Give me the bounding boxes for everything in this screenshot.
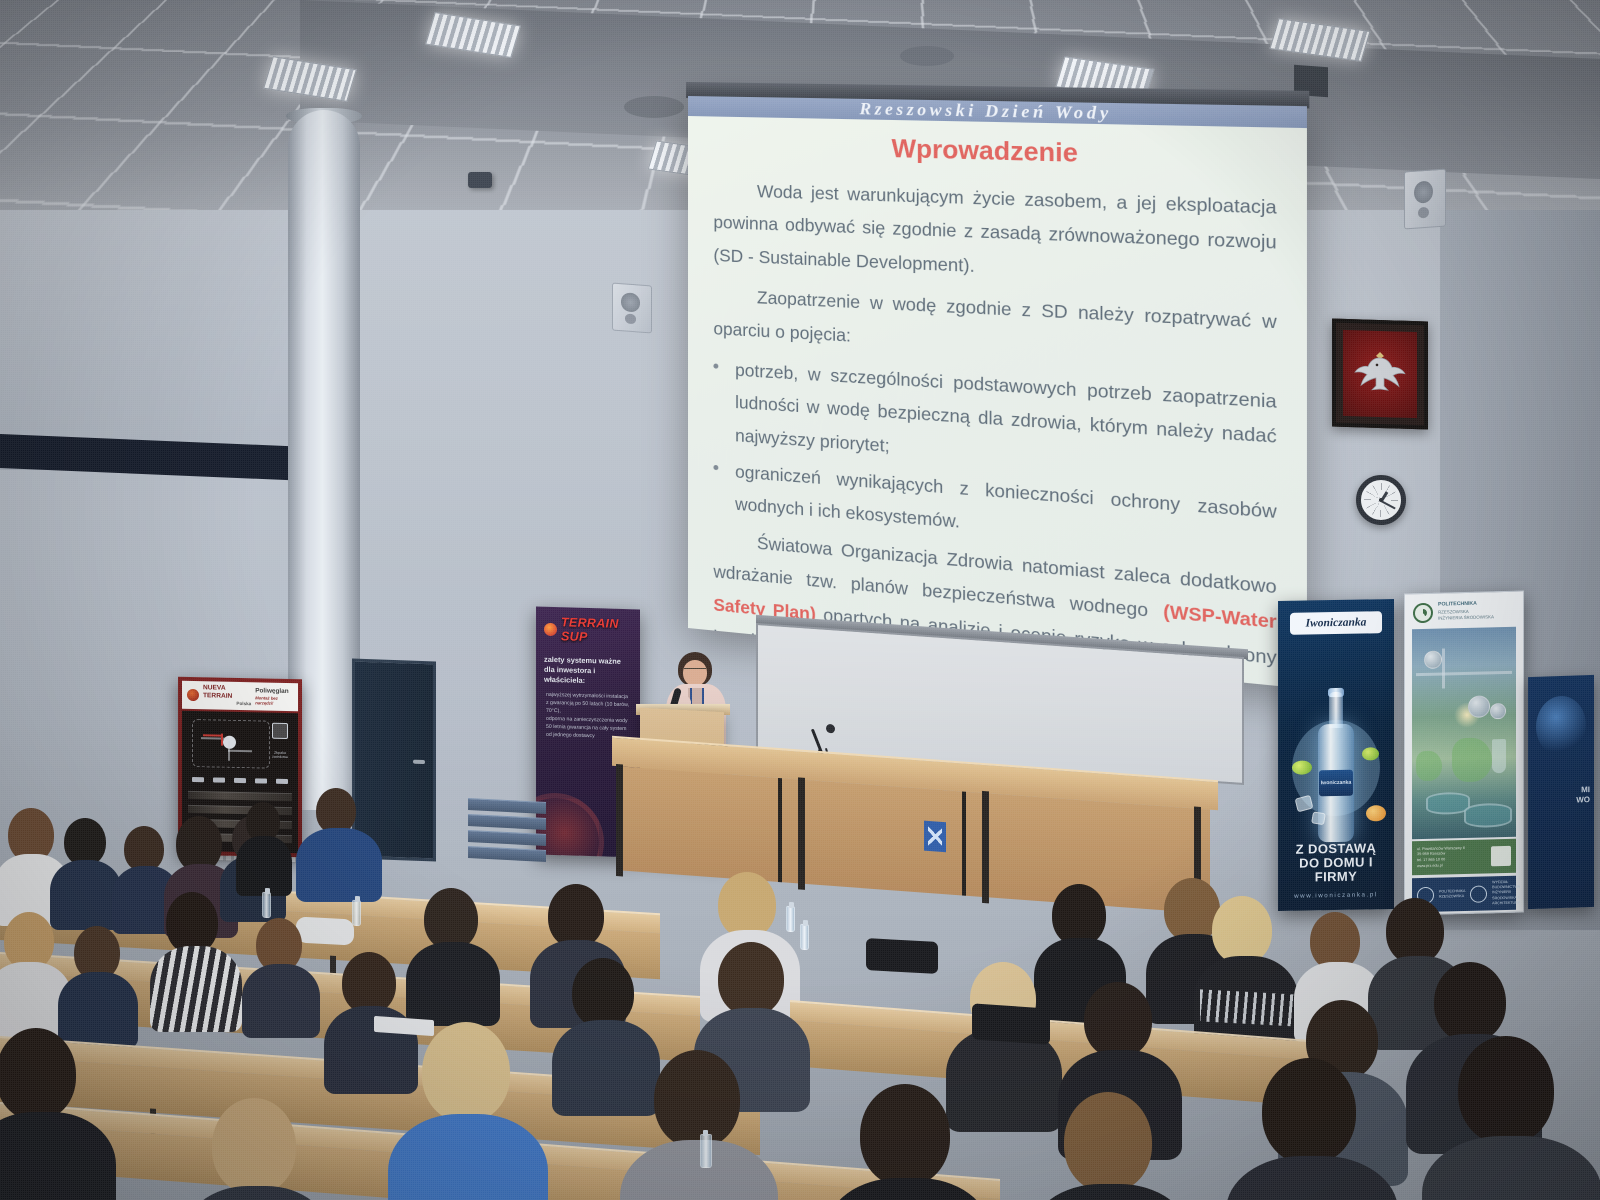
foliage-graphic	[1416, 751, 1442, 782]
person-torso	[58, 972, 138, 1048]
person-head	[718, 872, 776, 938]
terrain-brand: TERRAIN SUP	[561, 615, 634, 645]
door-handle[interactable]	[413, 760, 425, 764]
nueva-terrain-logo-icon	[187, 689, 199, 701]
person-torso	[296, 828, 382, 902]
person-head	[1386, 898, 1444, 964]
person-torso	[552, 1020, 660, 1116]
terrain-logo: TERRAIN SUP	[536, 607, 640, 646]
person-head	[342, 952, 396, 1014]
tank-graphic	[1490, 703, 1506, 719]
security-camera	[468, 172, 492, 188]
edge-graphic	[1536, 695, 1586, 757]
shelf-strip	[188, 791, 292, 801]
person-head	[572, 958, 634, 1028]
edge-line-1: MI	[1576, 785, 1590, 796]
footer-label-1: POLITECHNIKA RZESZOWSKA	[1439, 889, 1465, 900]
person-torso	[406, 942, 500, 1026]
pipe-highlight	[221, 733, 223, 745]
iwoniczanka-brand: Iwoniczanka	[1290, 611, 1382, 635]
person-head	[1458, 1036, 1554, 1144]
person-head	[64, 818, 106, 866]
person-torso	[236, 836, 292, 896]
terrain-headline: zalety systemu ważne dla inwestora i wła…	[536, 643, 640, 688]
desk-seam	[962, 791, 966, 895]
edge-banner-text: MI WO	[1576, 785, 1590, 806]
emblem-background	[1343, 330, 1417, 418]
person-torso	[150, 946, 242, 1032]
wall-clock	[1356, 475, 1406, 525]
water-bottle	[352, 900, 361, 926]
tank-graphic	[1424, 651, 1442, 669]
ceiling-vent	[900, 46, 954, 66]
person-head	[422, 1022, 510, 1122]
stage-steps	[468, 798, 546, 866]
bullet-dot-icon	[713, 454, 723, 520]
slide-content: Wprowadzenie Woda jest warunkującym życi…	[688, 116, 1307, 689]
ice-cube-icon	[1311, 811, 1326, 825]
wall-speaker	[612, 283, 652, 334]
orange-slice-icon	[1366, 805, 1386, 821]
pipe-graphic	[1442, 648, 1445, 688]
bottle-label: Iwoniczanka	[1319, 770, 1353, 797]
banner-iwoniczanka: Iwoniczanka Iwoniczanka Z DOSTAWĄ DO DOM…	[1278, 599, 1394, 911]
desk-seam	[778, 778, 782, 882]
ice-cube-icon	[1295, 795, 1314, 813]
address-line: www.prz.edu.pl	[1417, 863, 1465, 870]
person-head	[424, 888, 478, 950]
address-lines: ul. Powstańców Warszawy 6 35-959 Rzeszów…	[1417, 846, 1465, 870]
person-head	[1052, 884, 1106, 946]
edge-line-2: WO	[1576, 795, 1590, 806]
tech-banner-header: POLITECHNIKA RZESZOWSKA INŻYNIERIA ŚRODO…	[1405, 592, 1523, 628]
glassware-graphic	[1492, 739, 1506, 773]
org-line-3: INŻYNIERIA ŚRODOWISKA	[1438, 615, 1494, 623]
terrain-swirl-graphic	[536, 792, 604, 858]
clock-center-pin	[1379, 498, 1383, 502]
pipe-segment	[201, 738, 229, 741]
water-bottle	[700, 1134, 712, 1168]
person-head	[166, 892, 218, 954]
cabinet-brand: NUEVA TERRAINPolska	[203, 685, 251, 707]
desk-leg	[798, 777, 805, 890]
cabinet-product: PoliwęglanMontaż bez narzędzi!	[255, 687, 293, 706]
wall-speaker	[1404, 169, 1446, 230]
person-head	[1434, 962, 1506, 1042]
university-logo-icon	[1413, 602, 1433, 622]
person-head	[548, 884, 604, 948]
person-head	[1084, 982, 1152, 1058]
footer-label-2: WYDZIAŁ BUDOWNICTWA INŻYNIERII ŚRODOWISK…	[1492, 880, 1520, 907]
tank-graphic	[1468, 695, 1490, 718]
tech-banner-address: ul. Powstańców Warszawy 6 35-959 Rzeszów…	[1412, 839, 1516, 876]
banner-edge-partial: MI WO	[1528, 675, 1594, 909]
lecture-hall-photo: Rzeszowski Dzień Wody Wprowadzenie Woda …	[0, 0, 1600, 1200]
eagle-icon	[1352, 345, 1408, 399]
person-head	[718, 942, 784, 1016]
desk-leg	[616, 764, 623, 877]
bullet-dot-icon	[713, 352, 723, 450]
connector-row	[188, 773, 292, 787]
person-head	[1262, 1058, 1356, 1164]
tagline-line-2: DO DOMU I FIRMY	[1278, 855, 1394, 885]
foliage-graphic	[1452, 737, 1492, 782]
terrain-feature-list: najwyższej wytrzymałości instalacja z gw…	[536, 685, 640, 742]
desk-leg	[982, 791, 989, 904]
iwoniczanka-tagline: Z DOSTAWĄ DO DOMU I FIRMY	[1278, 841, 1394, 885]
handbag	[866, 938, 938, 974]
person-head	[1064, 1092, 1152, 1192]
person-head	[1212, 896, 1272, 964]
person-head	[654, 1050, 740, 1148]
bottle-neck	[1329, 692, 1343, 728]
person-head	[860, 1084, 950, 1186]
partner-logo-icon	[1491, 846, 1511, 866]
flame-icon	[544, 622, 557, 635]
person-torso	[242, 964, 320, 1038]
mic-capsule-icon	[826, 724, 835, 734]
tech-banner-photo-collage	[1412, 627, 1516, 840]
iwoniczanka-url: www.iwoniczanka.pl	[1278, 891, 1394, 900]
polish-eagle-emblem	[1332, 318, 1428, 429]
cabinet-side-panel: Złączka zaciskowa	[268, 723, 292, 760]
presenter-face	[683, 660, 707, 686]
beaded-collar	[1200, 989, 1298, 1026]
projection-screen: Rzeszowski Dzień Wody Wprowadzenie Woda …	[688, 96, 1307, 689]
cabinet-brand-sub: Polska	[203, 700, 251, 707]
cabinet-side-label: Złączka zaciskowa	[268, 751, 292, 760]
pipe-highlight	[203, 734, 221, 736]
settling-tank-graphic	[1464, 803, 1512, 828]
cabinet-header: NUEVA TERRAINPolska PoliwęglanMontaż bez…	[182, 681, 298, 711]
person-head	[0, 1028, 76, 1120]
water-bottle	[262, 892, 271, 918]
person-head	[212, 1098, 296, 1194]
desk-emblem-icon	[924, 821, 946, 853]
slide-paragraph-1: Woda jest warunkującym życie zasobem, a …	[713, 174, 1276, 296]
logo-mark-icon	[1470, 885, 1487, 902]
fitting-icon	[272, 723, 288, 739]
tech-org-lines: POLITECHNIKA RZESZOWSKA INŻYNIERIA ŚRODO…	[1438, 600, 1494, 622]
water-bottle	[786, 906, 795, 932]
slide-title: Wprowadzenie	[713, 131, 1276, 175]
pipe-graphic	[1416, 671, 1512, 676]
projected-slide: Rzeszowski Dzień Wody Wprowadzenie Woda …	[688, 96, 1307, 689]
cabinet-product-sub: Montaż bez narzędzi!	[255, 695, 293, 706]
glasses-icon	[684, 668, 706, 673]
water-bottle	[800, 924, 809, 950]
ceiling-vent	[624, 96, 684, 118]
banner-technical-university: POLITECHNIKA RZESZOWSKA INŻYNIERIA ŚRODO…	[1404, 591, 1524, 916]
hall-door	[352, 659, 436, 862]
handbag	[972, 1003, 1050, 1044]
folded-garment	[296, 916, 354, 945]
pipe-segment	[228, 749, 252, 752]
piping-diagram	[192, 719, 270, 769]
